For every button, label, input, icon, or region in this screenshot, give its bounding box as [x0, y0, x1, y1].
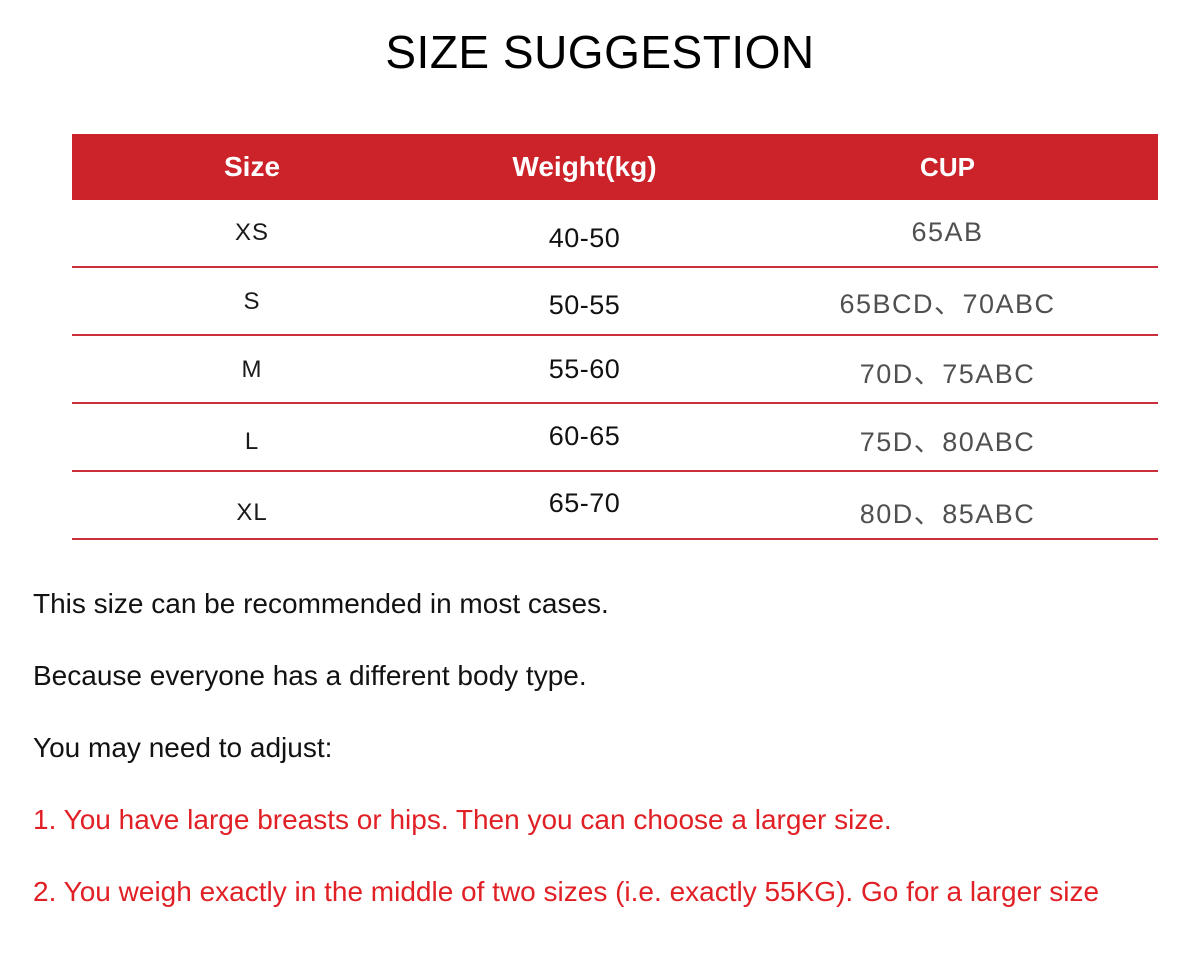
cell-cup: 75D、80ABC [737, 420, 1158, 459]
cell-cup: 80D、85ABC [737, 492, 1158, 531]
cell-weight: 40-50 [432, 223, 737, 254]
cell-weight: 55-60 [432, 354, 737, 385]
table-row: XS 40-50 65AB [72, 200, 1158, 268]
column-header-weight: Weight(kg) [432, 134, 737, 200]
size-suggestion-table: Size Weight(kg) CUP XS 40-50 65AB S 50-5… [72, 134, 1158, 540]
table-row: L 60-65 75D、80ABC [72, 404, 1158, 472]
note-line-adjust-intro: You may need to adjust: [33, 712, 1193, 784]
cell-size: L [72, 428, 432, 456]
column-header-size: Size [72, 134, 432, 200]
notes-section: This size can be recommended in most cas… [33, 568, 1193, 928]
column-header-cup: CUP [737, 134, 1158, 200]
cell-cup: 65AB [737, 217, 1158, 248]
cell-weight: 65-70 [432, 488, 737, 519]
cell-cup: 65BCD、70ABC [737, 282, 1158, 321]
cell-size: S [72, 288, 432, 316]
note-line-adjust-2: 2. You weigh exactly in the middle of tw… [33, 856, 1193, 928]
cell-size: M [72, 356, 432, 384]
cell-weight: 60-65 [432, 421, 737, 452]
page-title: SIZE SUGGESTION [0, 22, 1200, 82]
cell-size: XL [72, 499, 432, 527]
table-row: XL 65-70 80D、85ABC [72, 472, 1158, 540]
cell-size: XS [72, 219, 432, 247]
table-row: S 50-55 65BCD、70ABC [72, 268, 1158, 336]
note-line-adjust-1: 1. You have large breasts or hips. Then … [33, 784, 1193, 856]
table-row: M 55-60 70D、75ABC [72, 336, 1158, 404]
table-header-row: Size Weight(kg) CUP [72, 134, 1158, 200]
cell-weight: 50-55 [432, 290, 737, 321]
note-line-recommendation: This size can be recommended in most cas… [33, 568, 1193, 640]
cell-cup: 70D、75ABC [737, 352, 1158, 391]
note-line-body-type: Because everyone has a different body ty… [33, 640, 1193, 712]
